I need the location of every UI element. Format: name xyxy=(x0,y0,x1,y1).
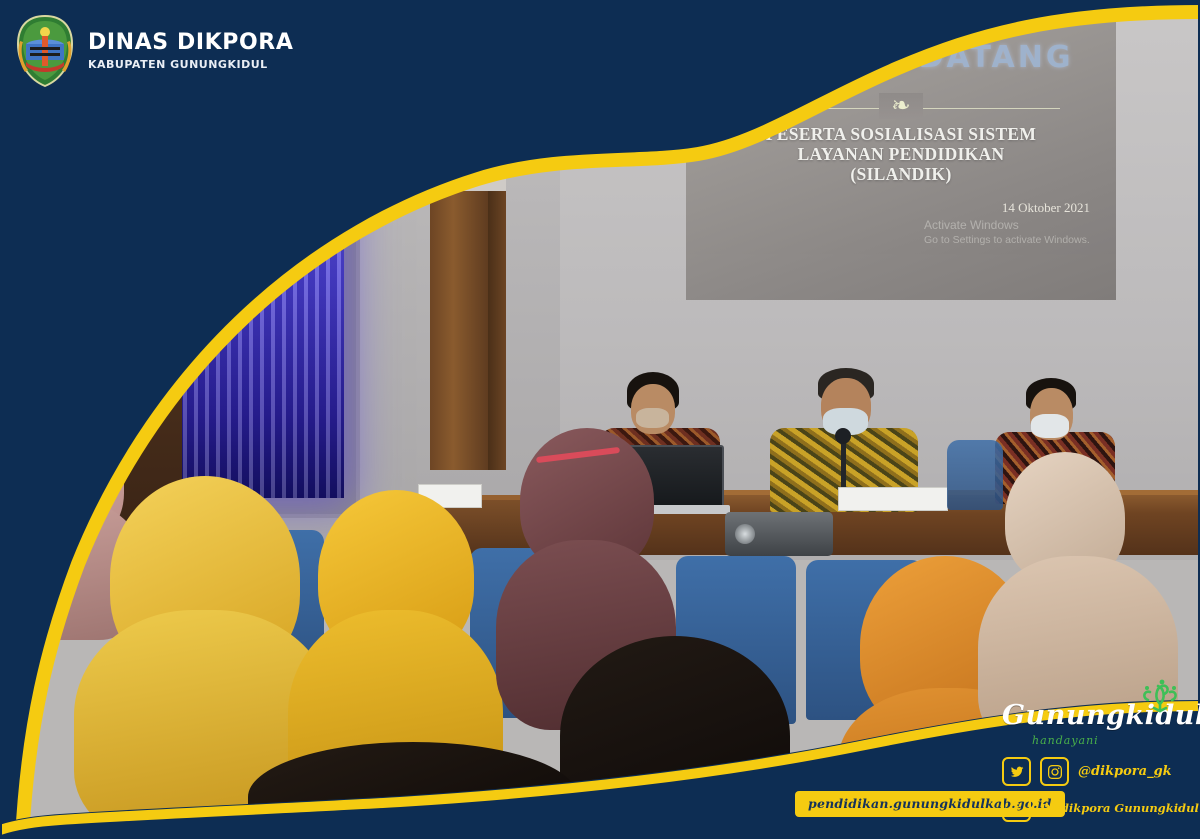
header-brand: DINAS DIKPORA KABUPATEN GUNUNGKIDUL xyxy=(14,14,293,88)
gunungkidul-brand-logo: Gunungkidul handayani xyxy=(1002,700,1182,747)
slide-date: 14 Oktober 2021 xyxy=(1002,200,1090,216)
audience-head-dark xyxy=(560,636,790,836)
slide-subtitle-line3: (SILANDIK) xyxy=(686,164,1116,184)
social-row-twitter-instagram: @dikpora_gk xyxy=(1002,757,1188,786)
brand-tagline: handayani xyxy=(1032,734,1182,747)
brand-subtitle: KABUPATEN GUNUNGKIDUL xyxy=(88,59,293,70)
facebook-icon[interactable] xyxy=(1002,793,1031,822)
nameplate-center xyxy=(838,487,948,511)
slide-heading: SELAMAT DATANG xyxy=(686,40,1116,75)
event-photo-card: BJB 1 SELAMAT DATANG ❧ PESERTA SOSIALISA… xyxy=(0,0,1200,839)
slide-ornament: ❧ xyxy=(686,93,1116,119)
slide-subtitle-line2: LAYANAN PENDIDIKAN xyxy=(686,144,1116,164)
projection-screen: SELAMAT DATANG ❧ PESERTA SOSIALISASI SIS… xyxy=(686,0,1116,300)
wood-pillar xyxy=(430,0,488,470)
social-links: @dikpora_gk Disdikpora Gunungkidul xyxy=(1002,757,1188,829)
instagram-handle[interactable]: @dikpora_gk xyxy=(1078,764,1172,779)
projector-lens xyxy=(735,524,755,544)
windows-activation-watermark: Activate Windows Go to Settings to activ… xyxy=(924,218,1094,248)
podium-plaque xyxy=(40,396,90,405)
audience-chair xyxy=(947,440,1003,510)
gunungkidul-regency-crest-icon xyxy=(14,14,76,88)
brand-text: DINAS DIKPORA KABUPATEN GUNUNGKIDUL xyxy=(88,32,293,70)
audience-head-dark-2 xyxy=(248,742,578,839)
social-row-facebook: Disdikpora Gunungkidul xyxy=(1002,793,1188,822)
watermark-line-1: Activate Windows xyxy=(924,218,1094,233)
pillar-band xyxy=(430,178,506,191)
watermark-line-2: Go to Settings to activate Windows. xyxy=(924,233,1094,248)
wood-pillar-edge xyxy=(488,0,506,470)
slide-subtitle-line1: PESERTA SOSIALISASI SISTEM xyxy=(686,124,1116,144)
curtain-finial-right xyxy=(360,102,375,124)
twitter-icon[interactable] xyxy=(1002,757,1031,786)
curtain-finial-left xyxy=(32,102,47,124)
brand-title: DINAS DIKPORA xyxy=(88,32,293,54)
handayani-flourish-icon xyxy=(1136,674,1184,714)
slide-subtitle: PESERTA SOSIALISASI SISTEM LAYANAN PENDI… xyxy=(686,124,1116,184)
facebook-handle[interactable]: Disdikpora Gunungkidul xyxy=(1040,801,1199,815)
curtain-rod xyxy=(38,108,368,117)
instagram-icon[interactable] xyxy=(1040,757,1069,786)
